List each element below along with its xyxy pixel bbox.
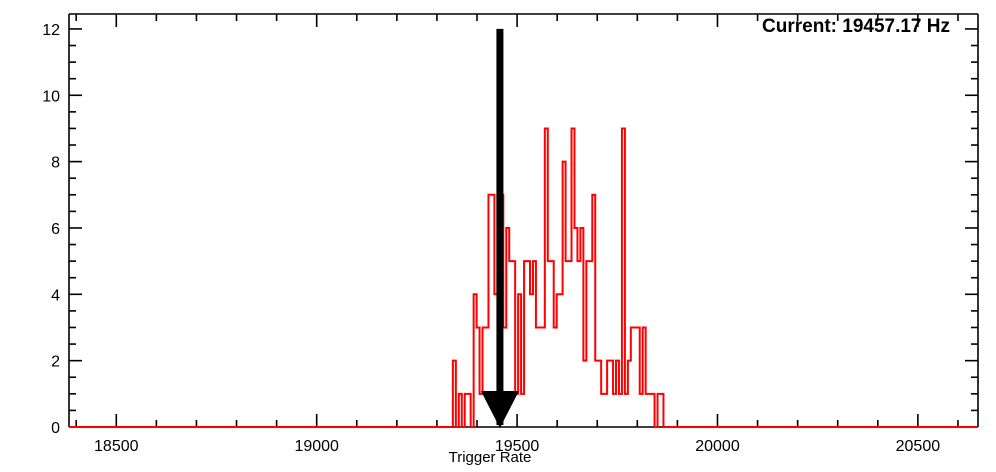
y-axis-tick-label: 8	[51, 155, 60, 172]
current-value-label: Current: 19457.17 Hz	[762, 16, 950, 38]
y-axis-tick-label: 2	[51, 354, 60, 371]
y-axis-tick-label: 10	[42, 88, 60, 105]
x-axis-tick-label: 18500	[94, 438, 139, 455]
x-axis-tick-label: 19000	[294, 438, 339, 455]
y-axis-tick-label: 0	[51, 420, 60, 437]
y-axis-tick-label: 12	[42, 22, 60, 39]
x-axis-tick-label: 20000	[695, 438, 740, 455]
x-axis-title: Trigger Rate	[400, 449, 580, 466]
histogram-canvas: 024681012 1850019000195002000020500	[0, 0, 996, 472]
y-axis-tick-label: 4	[51, 287, 60, 304]
x-axis-tick-label: 20500	[896, 438, 941, 455]
y-axis-tick-label: 6	[51, 221, 60, 238]
trigger-rate-histogram-panel: 024681012 1850019000195002000020500 Curr…	[0, 0, 996, 472]
